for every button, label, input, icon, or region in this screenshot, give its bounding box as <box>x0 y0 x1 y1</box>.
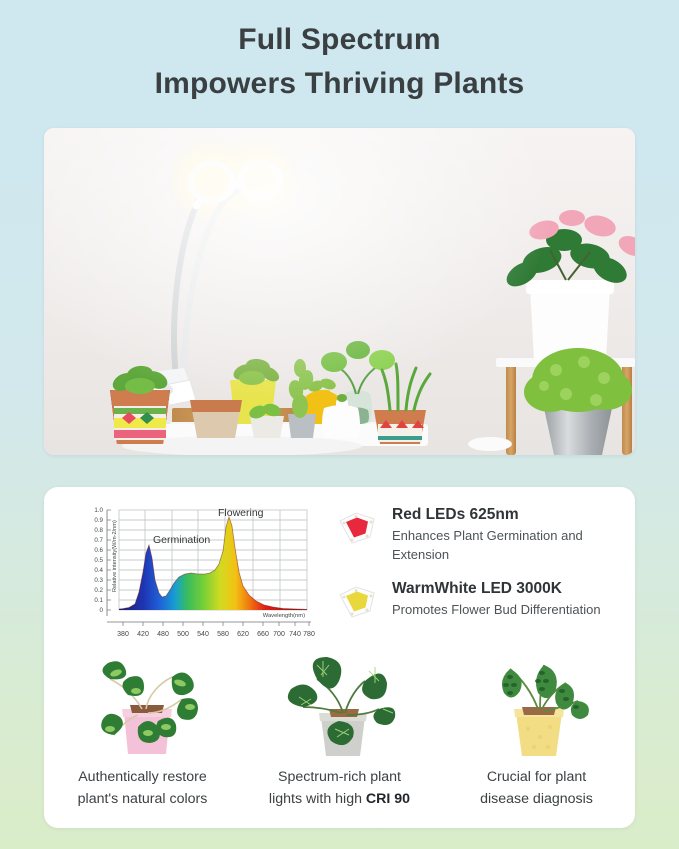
svg-text:0.4: 0.4 <box>94 567 103 574</box>
svg-text:780: 780 <box>303 631 315 638</box>
red-led-description: Enhances Plant Germination and Extension <box>392 527 626 565</box>
svg-text:480: 480 <box>157 631 169 638</box>
benefit-caption-1-line-2: plant's natural colors <box>78 791 208 807</box>
spec-card: 1.00.9 0.80.7 0.60.5 0.40.3 0.20.1 0 Rel… <box>44 487 635 828</box>
svg-text:500: 500 <box>177 631 189 638</box>
svg-text:0.6: 0.6 <box>94 547 103 554</box>
red-led-text: Red LEDs 625nm Enhances Plant Germinatio… <box>382 505 626 565</box>
benefits-row: Authentically restore plant's natural co… <box>44 655 635 810</box>
hero-product-photo <box>44 128 635 455</box>
svg-text:0.3: 0.3 <box>94 577 103 584</box>
red-led-chip-icon <box>336 505 382 550</box>
benefit-caption-1: Authentically restore plant's natural co… <box>44 766 241 810</box>
benefit-item-1: Authentically restore plant's natural co… <box>44 655 241 810</box>
led-spec-row-red: Red LEDs 625nm Enhances Plant Germinatio… <box>336 505 626 565</box>
spectrum-chart-svg: 1.00.9 0.80.7 0.60.5 0.40.3 0.20.1 0 Rel… <box>67 504 315 643</box>
headline-line-1: Full Spectrum <box>0 18 679 62</box>
chart-x-axis-label: Wavelength(nm) <box>263 613 305 619</box>
benefit-item-3: Crucial for plant disease diagnosis <box>438 655 635 810</box>
spotted-plant-yellow-pot-icon <box>438 655 635 760</box>
benefit-caption-2: Spectrum-rich plant lights with high CRI… <box>241 766 438 810</box>
benefit-caption-2-bold: CRI 90 <box>366 791 410 807</box>
svg-text:1.0: 1.0 <box>94 507 103 514</box>
page-title: Full Spectrum Impowers Thriving Plants <box>0 18 679 105</box>
benefit-caption-3-line-1: Crucial for plant <box>487 769 586 785</box>
pothos-plant-pink-pot-icon <box>44 655 241 760</box>
svg-text:540: 540 <box>197 631 209 638</box>
svg-text:0.9: 0.9 <box>94 517 103 524</box>
headline-line-2: Impowers Thriving Plants <box>0 62 679 106</box>
svg-text:0.7: 0.7 <box>94 537 103 544</box>
warmwhite-led-title: WarmWhite LED 3000K <box>392 579 601 598</box>
calathea-plant-gray-pot-icon <box>241 655 438 760</box>
warmwhite-led-description: Promotes Flower Bud Differentiation <box>392 601 601 620</box>
chart-y-axis-label: Relative intensity(W/m-2/nm) <box>112 520 118 592</box>
svg-text:380: 380 <box>117 631 129 638</box>
svg-text:740: 740 <box>289 631 301 638</box>
benefit-item-2: Spectrum-rich plant lights with high CRI… <box>241 655 438 810</box>
svg-text:700: 700 <box>273 631 285 638</box>
chart-annotation-flowering: Flowering <box>218 507 264 519</box>
led-spec-list: Red LEDs 625nm Enhances Plant Germinatio… <box>336 505 626 638</box>
svg-text:0.2: 0.2 <box>94 587 103 594</box>
benefit-caption-2-line-1: Spectrum-rich plant <box>278 769 401 785</box>
svg-text:580: 580 <box>217 631 229 638</box>
warmwhite-led-text: WarmWhite LED 3000K Promotes Flower Bud … <box>382 579 601 620</box>
svg-text:0: 0 <box>100 607 104 614</box>
svg-text:620: 620 <box>237 631 249 638</box>
warmwhite-led-chip-icon <box>336 579 382 624</box>
chart-annotation-germination: Germination <box>153 534 210 546</box>
benefit-caption-2-line-2: lights with high <box>269 791 366 807</box>
benefit-caption-3-line-2: disease diagnosis <box>480 791 593 807</box>
benefit-caption-1-line-1: Authentically restore <box>78 769 207 785</box>
svg-text:0.1: 0.1 <box>94 597 103 604</box>
benefit-caption-3: Crucial for plant disease diagnosis <box>438 766 635 810</box>
svg-text:0.8: 0.8 <box>94 527 103 534</box>
svg-text:660: 660 <box>257 631 269 638</box>
spectrum-chart: 1.00.9 0.80.7 0.60.5 0.40.3 0.20.1 0 Rel… <box>67 504 315 643</box>
led-spec-row-warmwhite: WarmWhite LED 3000K Promotes Flower Bud … <box>336 579 626 624</box>
svg-text:0.5: 0.5 <box>94 557 103 564</box>
photo-wall-backdrop <box>44 128 635 455</box>
red-led-title: Red LEDs 625nm <box>392 505 626 524</box>
svg-text:420: 420 <box>137 631 149 638</box>
